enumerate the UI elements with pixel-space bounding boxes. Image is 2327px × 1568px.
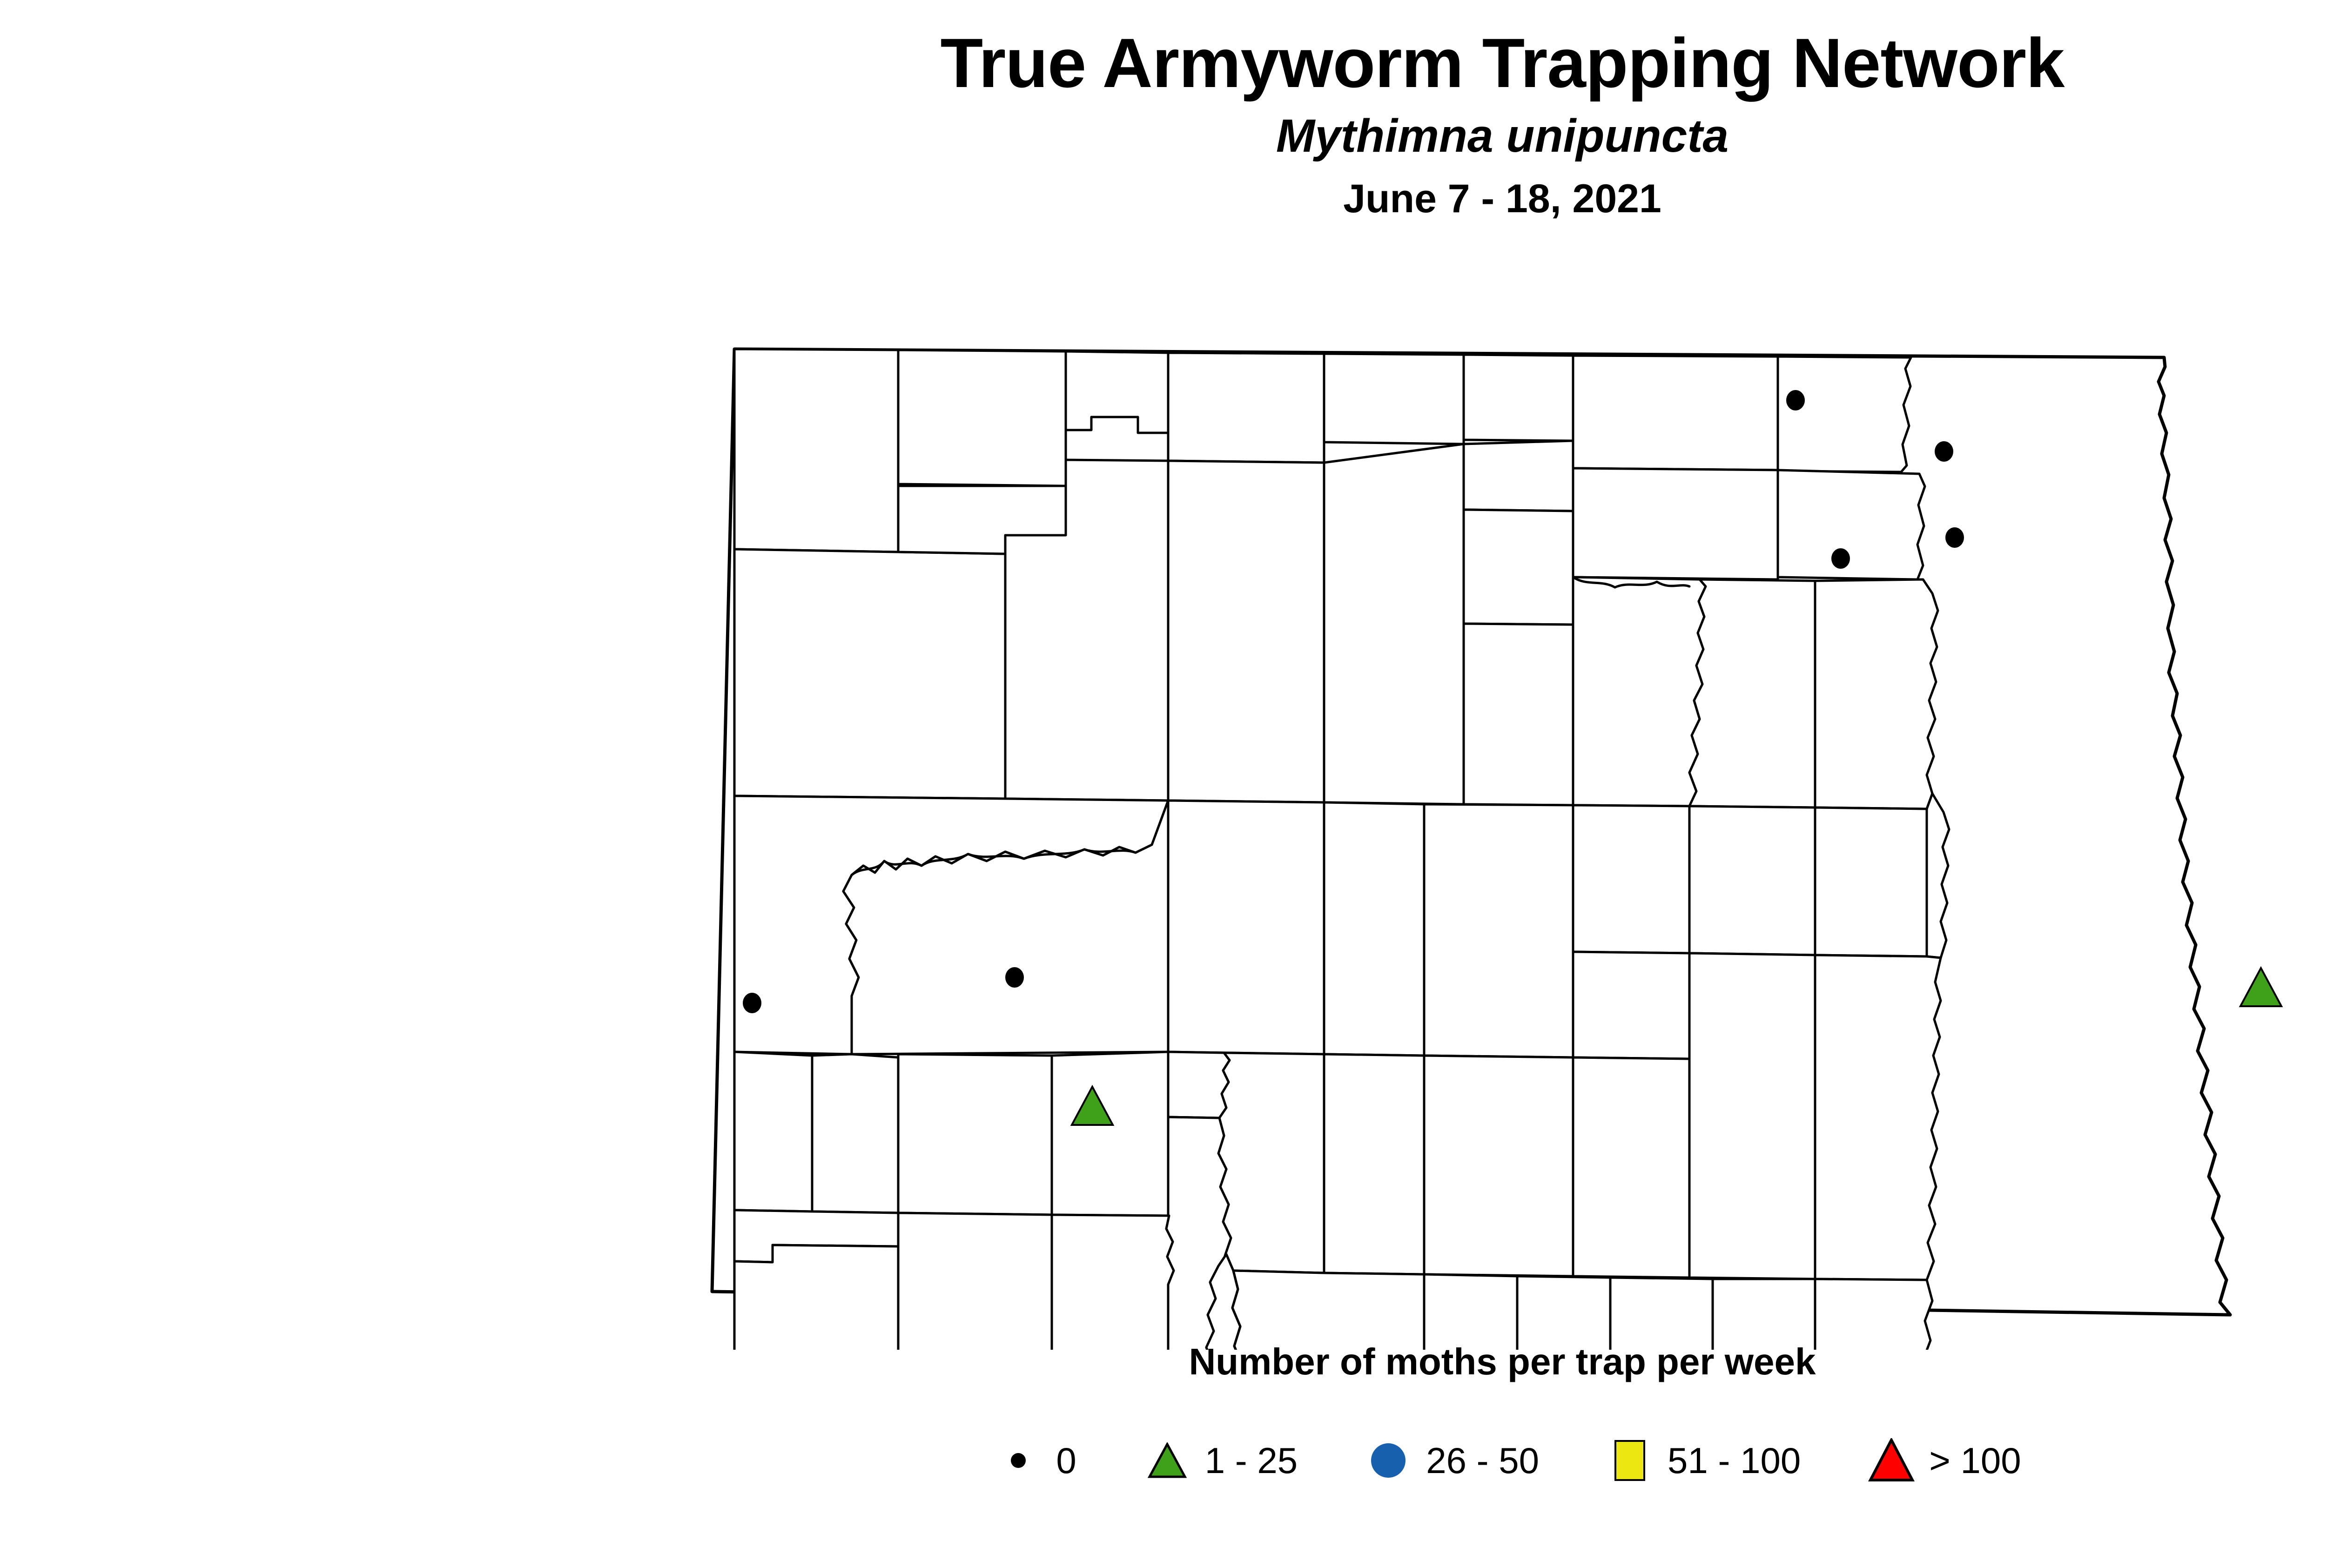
county-walsh (1778, 470, 1925, 579)
county-pembina (1778, 357, 1911, 472)
trap-point-0-1[interactable] (1786, 390, 1805, 411)
county-divide (734, 349, 898, 552)
title-block: True Armyworm Trapping Network Mythimna … (0, 0, 2327, 219)
trap-point-1-25-1[interactable] (2240, 968, 2281, 1006)
trap-point-0-2[interactable] (1935, 441, 1953, 462)
county-boundaries (712, 349, 2230, 1350)
county-barnes (1573, 1057, 1689, 1278)
county-logan (1424, 1274, 1517, 1350)
legend-label-3: 51 - 100 (1665, 1440, 1856, 1482)
county-billings (812, 1054, 898, 1213)
county-grand-forks (1815, 579, 1938, 809)
legend-label-0: 0 (1053, 1440, 1132, 1482)
legend-item-3[interactable]: 51 - 100 (1595, 1440, 1856, 1482)
county-nelson (1689, 579, 1815, 808)
county-ward (1168, 461, 1324, 802)
legend-item-0[interactable]: 0 (983, 1440, 1132, 1482)
map-svg (698, 326, 2327, 1350)
legend: 0 1 - 25 26 - 50 51 - 100 (0, 1438, 2327, 1483)
black-dot-icon (983, 1453, 1053, 1468)
county-benson (1573, 577, 1706, 806)
trap-point-0-4[interactable] (1831, 548, 1850, 569)
county-rolette (1324, 354, 1464, 444)
county-cavalier (1573, 356, 1778, 470)
scientific-name: Mythimna unipuncta (0, 98, 2327, 159)
page-title: True Armyworm Trapping Network (0, 0, 2327, 98)
county-ramsey (1464, 441, 1573, 511)
green-triangle-icon (1132, 1442, 1202, 1479)
county-foster (1573, 952, 1689, 1059)
county-wells (1424, 804, 1573, 1057)
legend-item-4[interactable]: > 100 (1856, 1438, 2021, 1483)
county-williams (734, 549, 1005, 799)
legend-label-2: 26 - 50 (1423, 1440, 1595, 1482)
county-oliver (1168, 1052, 1230, 1118)
yellow-square-icon (1595, 1440, 1665, 1481)
county-sheridan (1324, 802, 1424, 1056)
county-burleigh (1218, 1053, 1324, 1273)
county-golden-valley (734, 1052, 812, 1211)
county-emmons (1232, 1271, 1424, 1350)
county-griggs (1689, 806, 1815, 955)
county-towner (1464, 355, 1573, 441)
county-mercer (1052, 1052, 1168, 1216)
county-bottineau (1168, 353, 1324, 463)
county-burke (898, 350, 1066, 486)
county-ransom (1610, 1278, 1713, 1350)
county-richland (1815, 1279, 1932, 1350)
legend-item-2[interactable]: 26 - 50 (1353, 1440, 1595, 1482)
trap-point-0-6[interactable] (743, 993, 761, 1013)
county-pierce (1464, 624, 1573, 805)
county-cass-e (1815, 955, 1941, 1280)
county-ransom2 (1713, 1279, 1815, 1350)
legend-label-1: 1 - 25 (1202, 1440, 1353, 1482)
county-lamoure (1517, 1276, 1610, 1350)
county-kidder (1324, 1054, 1424, 1274)
county-steele (1815, 808, 1927, 956)
county-cass (1689, 953, 1815, 1279)
county-ramsey2 (1573, 468, 1778, 579)
county-mclean (1168, 801, 1324, 1054)
county-grant (1052, 1215, 1174, 1350)
poster-page: True Armyworm Trapping Network Mythimna … (0, 0, 2327, 1568)
county-stark (898, 1054, 1052, 1215)
trap-point-0-5[interactable] (1005, 967, 1024, 988)
legend-item-1[interactable]: 1 - 25 (1132, 1440, 1353, 1482)
legend-title: Number of moths per trap per week (0, 1340, 2327, 1383)
north-dakota-county-map[interactable] (698, 326, 2327, 1350)
county-stutsman (1424, 1056, 1573, 1276)
county-hettinger (898, 1213, 1052, 1350)
blue-circle-icon (1353, 1443, 1423, 1478)
county-cavalier-sub (1464, 510, 1573, 625)
county-eddy (1573, 805, 1689, 953)
trap-point-0-3[interactable] (1945, 527, 1964, 548)
date-range: June 7 - 18, 2021 (0, 159, 2327, 219)
county-mchenry (1324, 444, 1464, 804)
red-triangle-icon (1856, 1438, 1926, 1483)
legend-label-4: > 100 (1926, 1440, 2021, 1482)
